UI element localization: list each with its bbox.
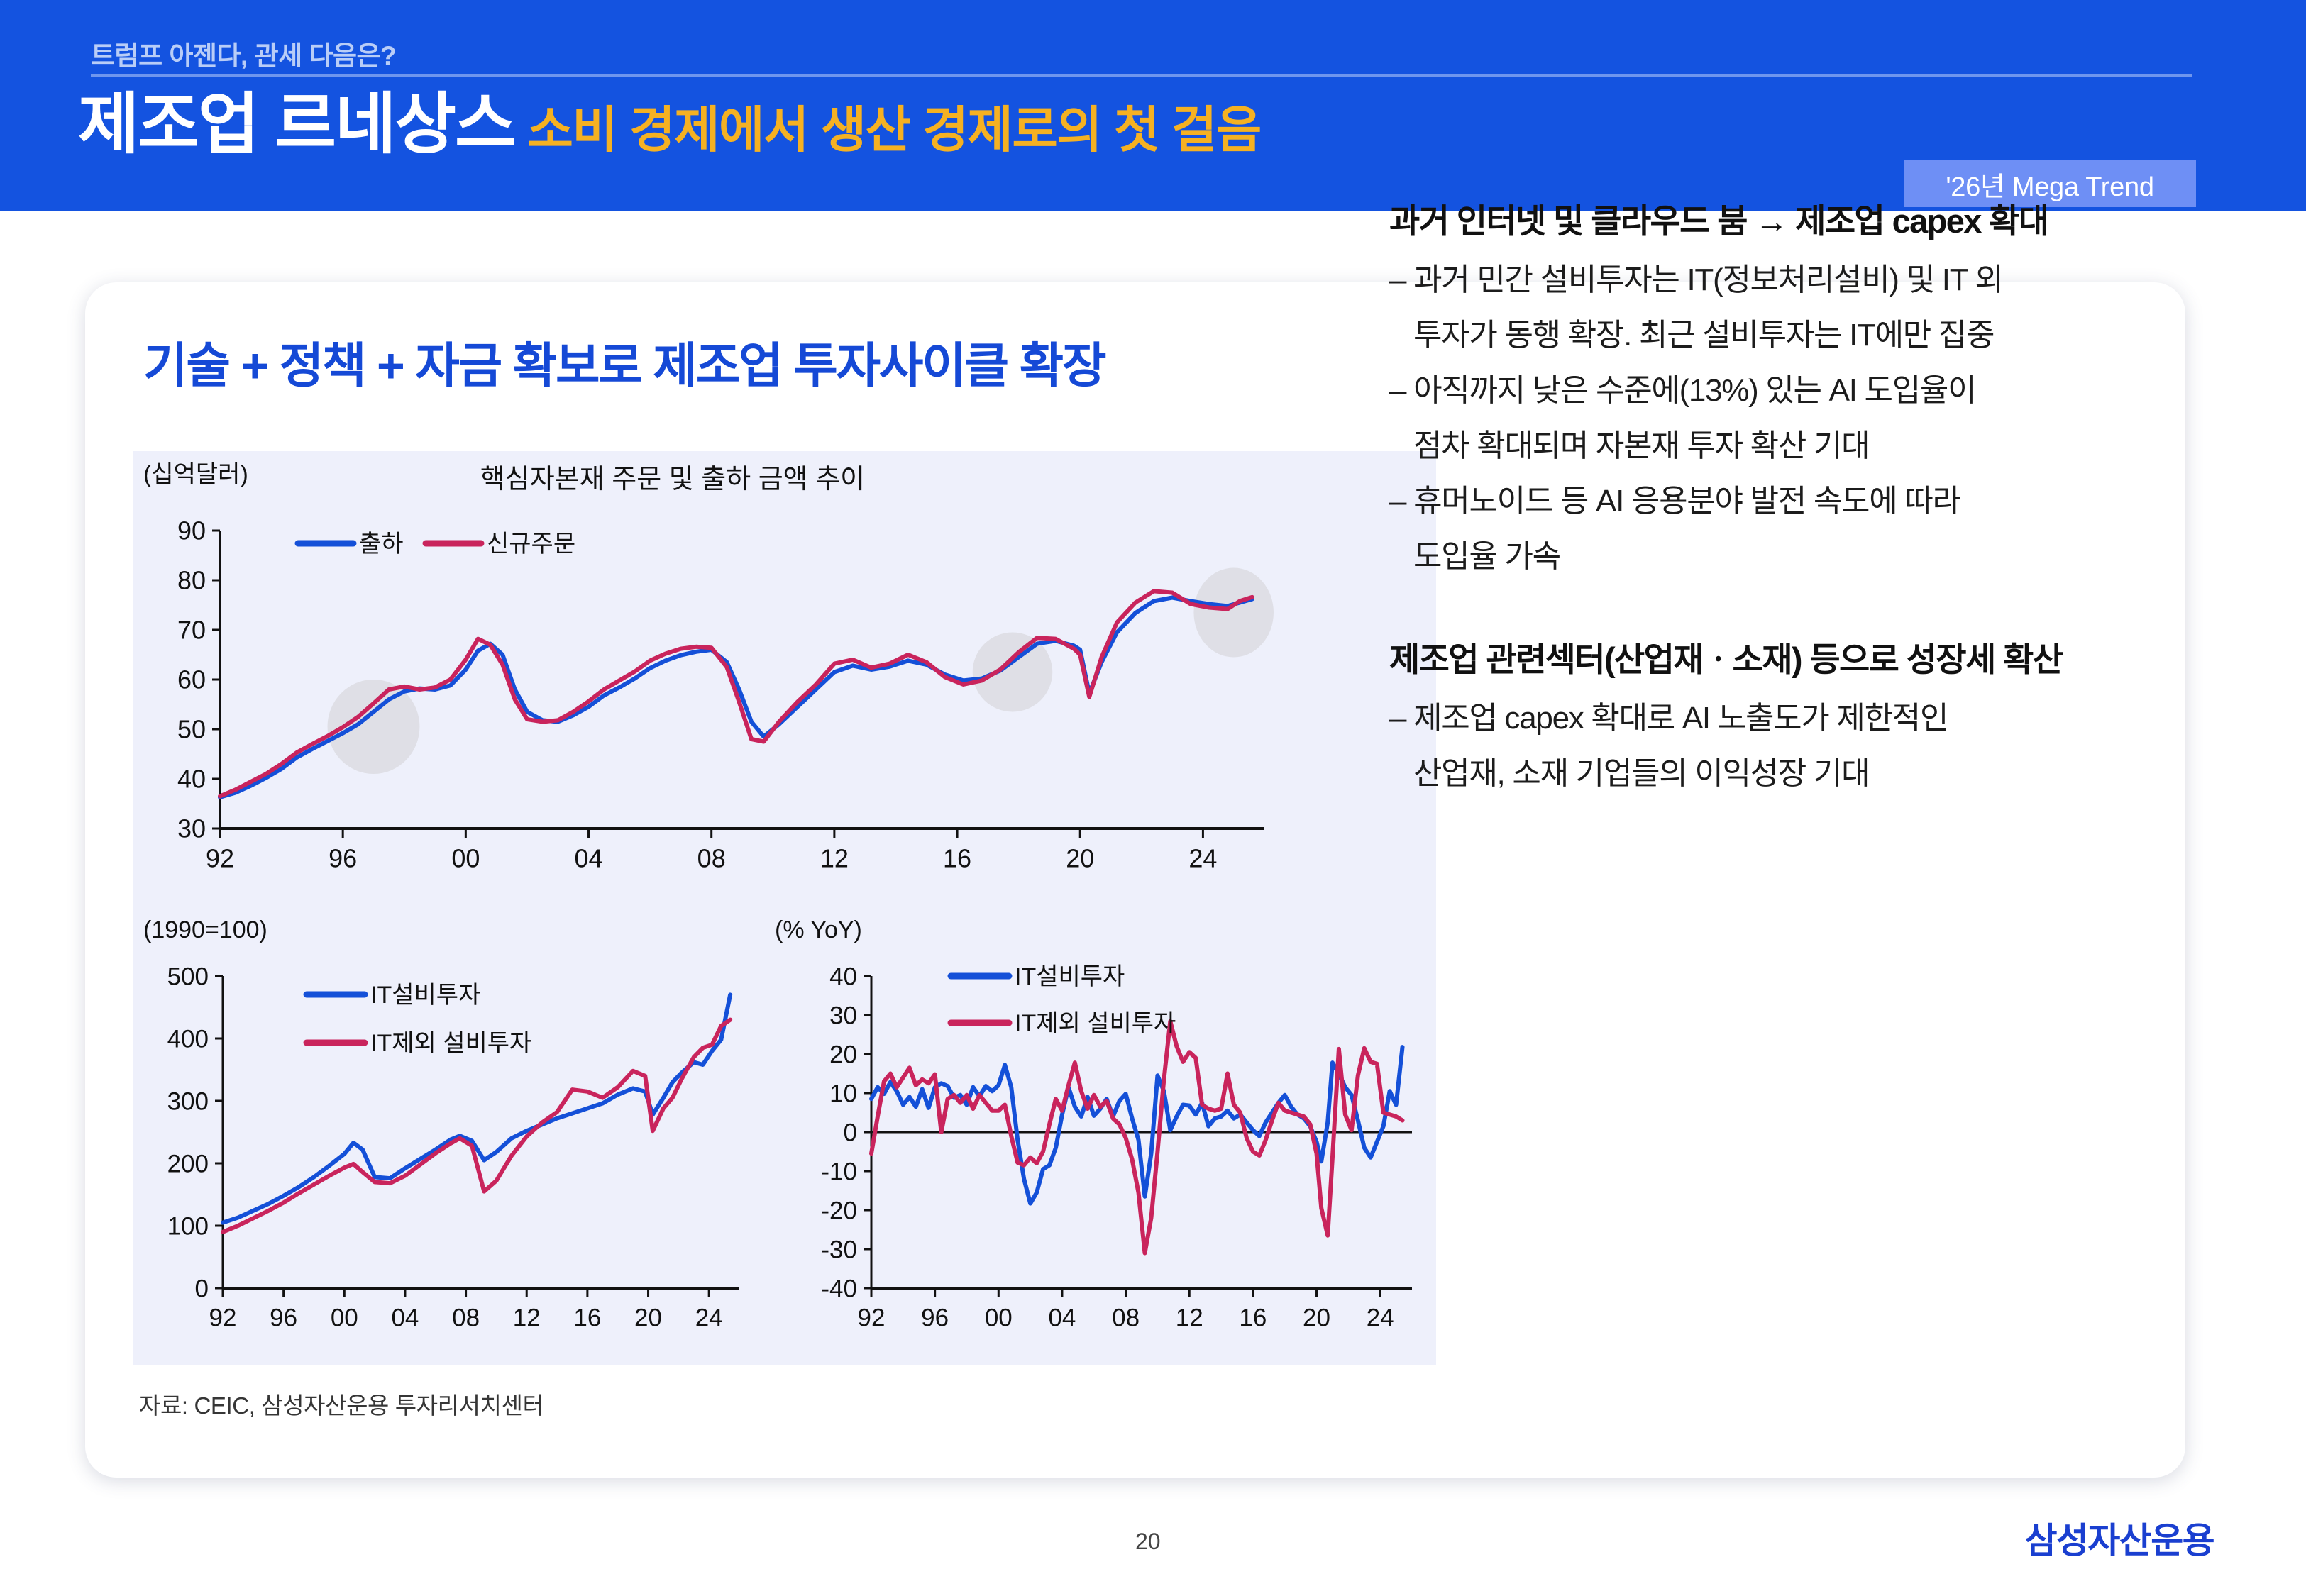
card-title: 기술 + 정책 + 자금 확보로 제조업 투자사이클 확장 [143,326,1105,397]
commentary-block-2: 제조업 관련섹터(산업재ㆍ소재) 등으로 성장세 확산 – 제조업 capex … [1389,641,2099,789]
svg-text:96: 96 [921,1304,949,1331]
svg-text:16: 16 [573,1304,601,1331]
svg-text:100: 100 [167,1212,209,1240]
chart-capital-goods-orders-shipments: (십억달러)핵심자본재 주문 및 출하 금액 추이304050607080909… [133,451,1436,908]
svg-text:60: 60 [177,665,206,694]
svg-text:300: 300 [167,1087,209,1115]
svg-text:200: 200 [167,1150,209,1177]
header-divider [91,74,2192,77]
svg-text:IT설비투자: IT설비투자 [1015,963,1125,990]
commentary-heading: 과거 인터넷 및 클라우드 붐 → 제조업 capex 확대 [1389,202,2099,240]
svg-text:24: 24 [1188,843,1217,872]
svg-text:40: 40 [177,765,206,794]
commentary-block-1: 과거 인터넷 및 클라우드 붐 → 제조업 capex 확대 – 과거 민간 설… [1389,202,2099,572]
svg-text:08: 08 [1112,1304,1140,1331]
commentary-line: – 과거 민간 설비투자는 IT(정보처리설비) 및 IT 외 [1389,265,2099,296]
svg-text:16: 16 [943,843,971,872]
commentary-line: 도입율 가속 [1389,541,2099,572]
headline-sub: 소비 경제에서 생산 경제로의 첫 걸음 [527,102,1260,157]
company-logo: 삼성자산운용 [2025,1512,2214,1563]
svg-text:04: 04 [575,843,603,872]
slide-header: 트럼프 아젠다, 관세 다음은? 제조업 르네상스소비 경제에서 생산 경제로의… [0,0,2306,211]
svg-text:20: 20 [634,1304,662,1331]
svg-text:(십억달러): (십억달러) [143,461,248,488]
svg-text:-10: -10 [821,1158,857,1185]
svg-text:92: 92 [206,843,234,872]
svg-text:12: 12 [1176,1304,1203,1331]
svg-text:(1990=100): (1990=100) [143,916,267,943]
svg-text:96: 96 [270,1304,297,1331]
commentary-line: – 제조업 capex 확대로 AI 노출도가 제한적인 [1389,703,2099,734]
commentary-line: – 아직까지 낮은 수준에(13%) 있는 AI 도입율이 [1389,375,2099,406]
svg-text:10: 10 [829,1080,857,1107]
charts-panel: (십억달러)핵심자본재 주문 및 출하 금액 추이304050607080909… [133,451,1436,1365]
svg-text:신규주문: 신규주문 [487,531,575,558]
svg-text:24: 24 [1367,1304,1394,1331]
svg-text:80: 80 [177,566,206,595]
svg-text:12: 12 [820,843,849,872]
source-note: 자료: CEIC, 삼성자산운용 투자리서치센터 [139,1387,544,1421]
commentary-line: – 휴머노이드 등 AI 응용분야 발전 속도에 따라 [1389,486,2099,517]
svg-text:출하: 출하 [359,531,404,558]
svg-text:16: 16 [1239,1304,1267,1331]
svg-text:00: 00 [451,843,480,872]
svg-text:30: 30 [829,1002,857,1029]
svg-text:92: 92 [209,1304,237,1331]
commentary-line: 산업재, 소재 기업들의 이익성장 기대 [1389,758,2099,789]
svg-text:0: 0 [195,1275,209,1302]
svg-text:-30: -30 [821,1236,857,1263]
svg-text:50: 50 [177,715,206,744]
svg-text:30: 30 [177,814,206,843]
svg-text:04: 04 [1048,1304,1076,1331]
svg-text:400: 400 [167,1025,209,1053]
page-number: 20 [1135,1529,1161,1555]
slide-headline: 제조업 르네상스소비 경제에서 생산 경제로의 첫 걸음 [78,91,1261,157]
commentary-line: 점차 확대되며 자본재 투자 확산 기대 [1389,431,2099,462]
commentary-panel: 과거 인터넷 및 클라우드 붐 → 제조업 capex 확대 – 과거 민간 설… [1389,202,2099,789]
svg-text:IT설비투자: IT설비투자 [370,982,480,1009]
mega-trend-badge: '26년 Mega Trend [1904,160,2196,207]
svg-text:20: 20 [1066,843,1094,872]
svg-text:90: 90 [177,516,206,545]
chart-it-vs-nonit-capex-index: (1990=100)010020030040050092960004081216… [133,908,765,1365]
commentary-heading: 제조업 관련섹터(산업재ㆍ소재) 등으로 성장세 확산 [1389,641,2099,679]
header-eyebrow: 트럼프 아젠다, 관세 다음은? [91,34,396,72]
svg-text:IT제외 설비투자: IT제외 설비투자 [1015,1010,1176,1037]
svg-text:12: 12 [513,1304,541,1331]
svg-text:96: 96 [329,843,357,872]
svg-text:40: 40 [829,963,857,990]
svg-text:00: 00 [985,1304,1013,1331]
svg-text:70: 70 [177,616,206,645]
svg-text:00: 00 [331,1304,358,1331]
svg-text:-20: -20 [821,1197,857,1224]
mega-trend-badge-label: '26년 Mega Trend [1946,165,2153,204]
svg-text:IT제외 설비투자: IT제외 설비투자 [370,1030,531,1057]
svg-text:04: 04 [391,1304,419,1331]
svg-text:08: 08 [452,1304,480,1331]
svg-text:핵심자본재 주문 및 출하 금액 추이: 핵심자본재 주문 및 출하 금액 추이 [480,465,865,494]
headline-main: 제조업 르네상스 [78,87,514,161]
svg-text:20: 20 [1303,1304,1330,1331]
svg-text:(% YoY): (% YoY) [775,916,862,943]
chart-it-vs-nonit-capex-yoy: (% YoY)-40-30-20-10010203040929600040812… [765,908,1436,1365]
svg-text:0: 0 [844,1119,857,1146]
svg-text:20: 20 [829,1041,857,1068]
svg-text:08: 08 [697,843,726,872]
svg-text:24: 24 [695,1304,723,1331]
svg-text:92: 92 [858,1304,886,1331]
svg-text:-40: -40 [821,1275,857,1302]
svg-text:500: 500 [167,963,209,990]
commentary-line: 투자가 동행 확장. 최근 설비투자는 IT에만 집중 [1389,320,2099,351]
